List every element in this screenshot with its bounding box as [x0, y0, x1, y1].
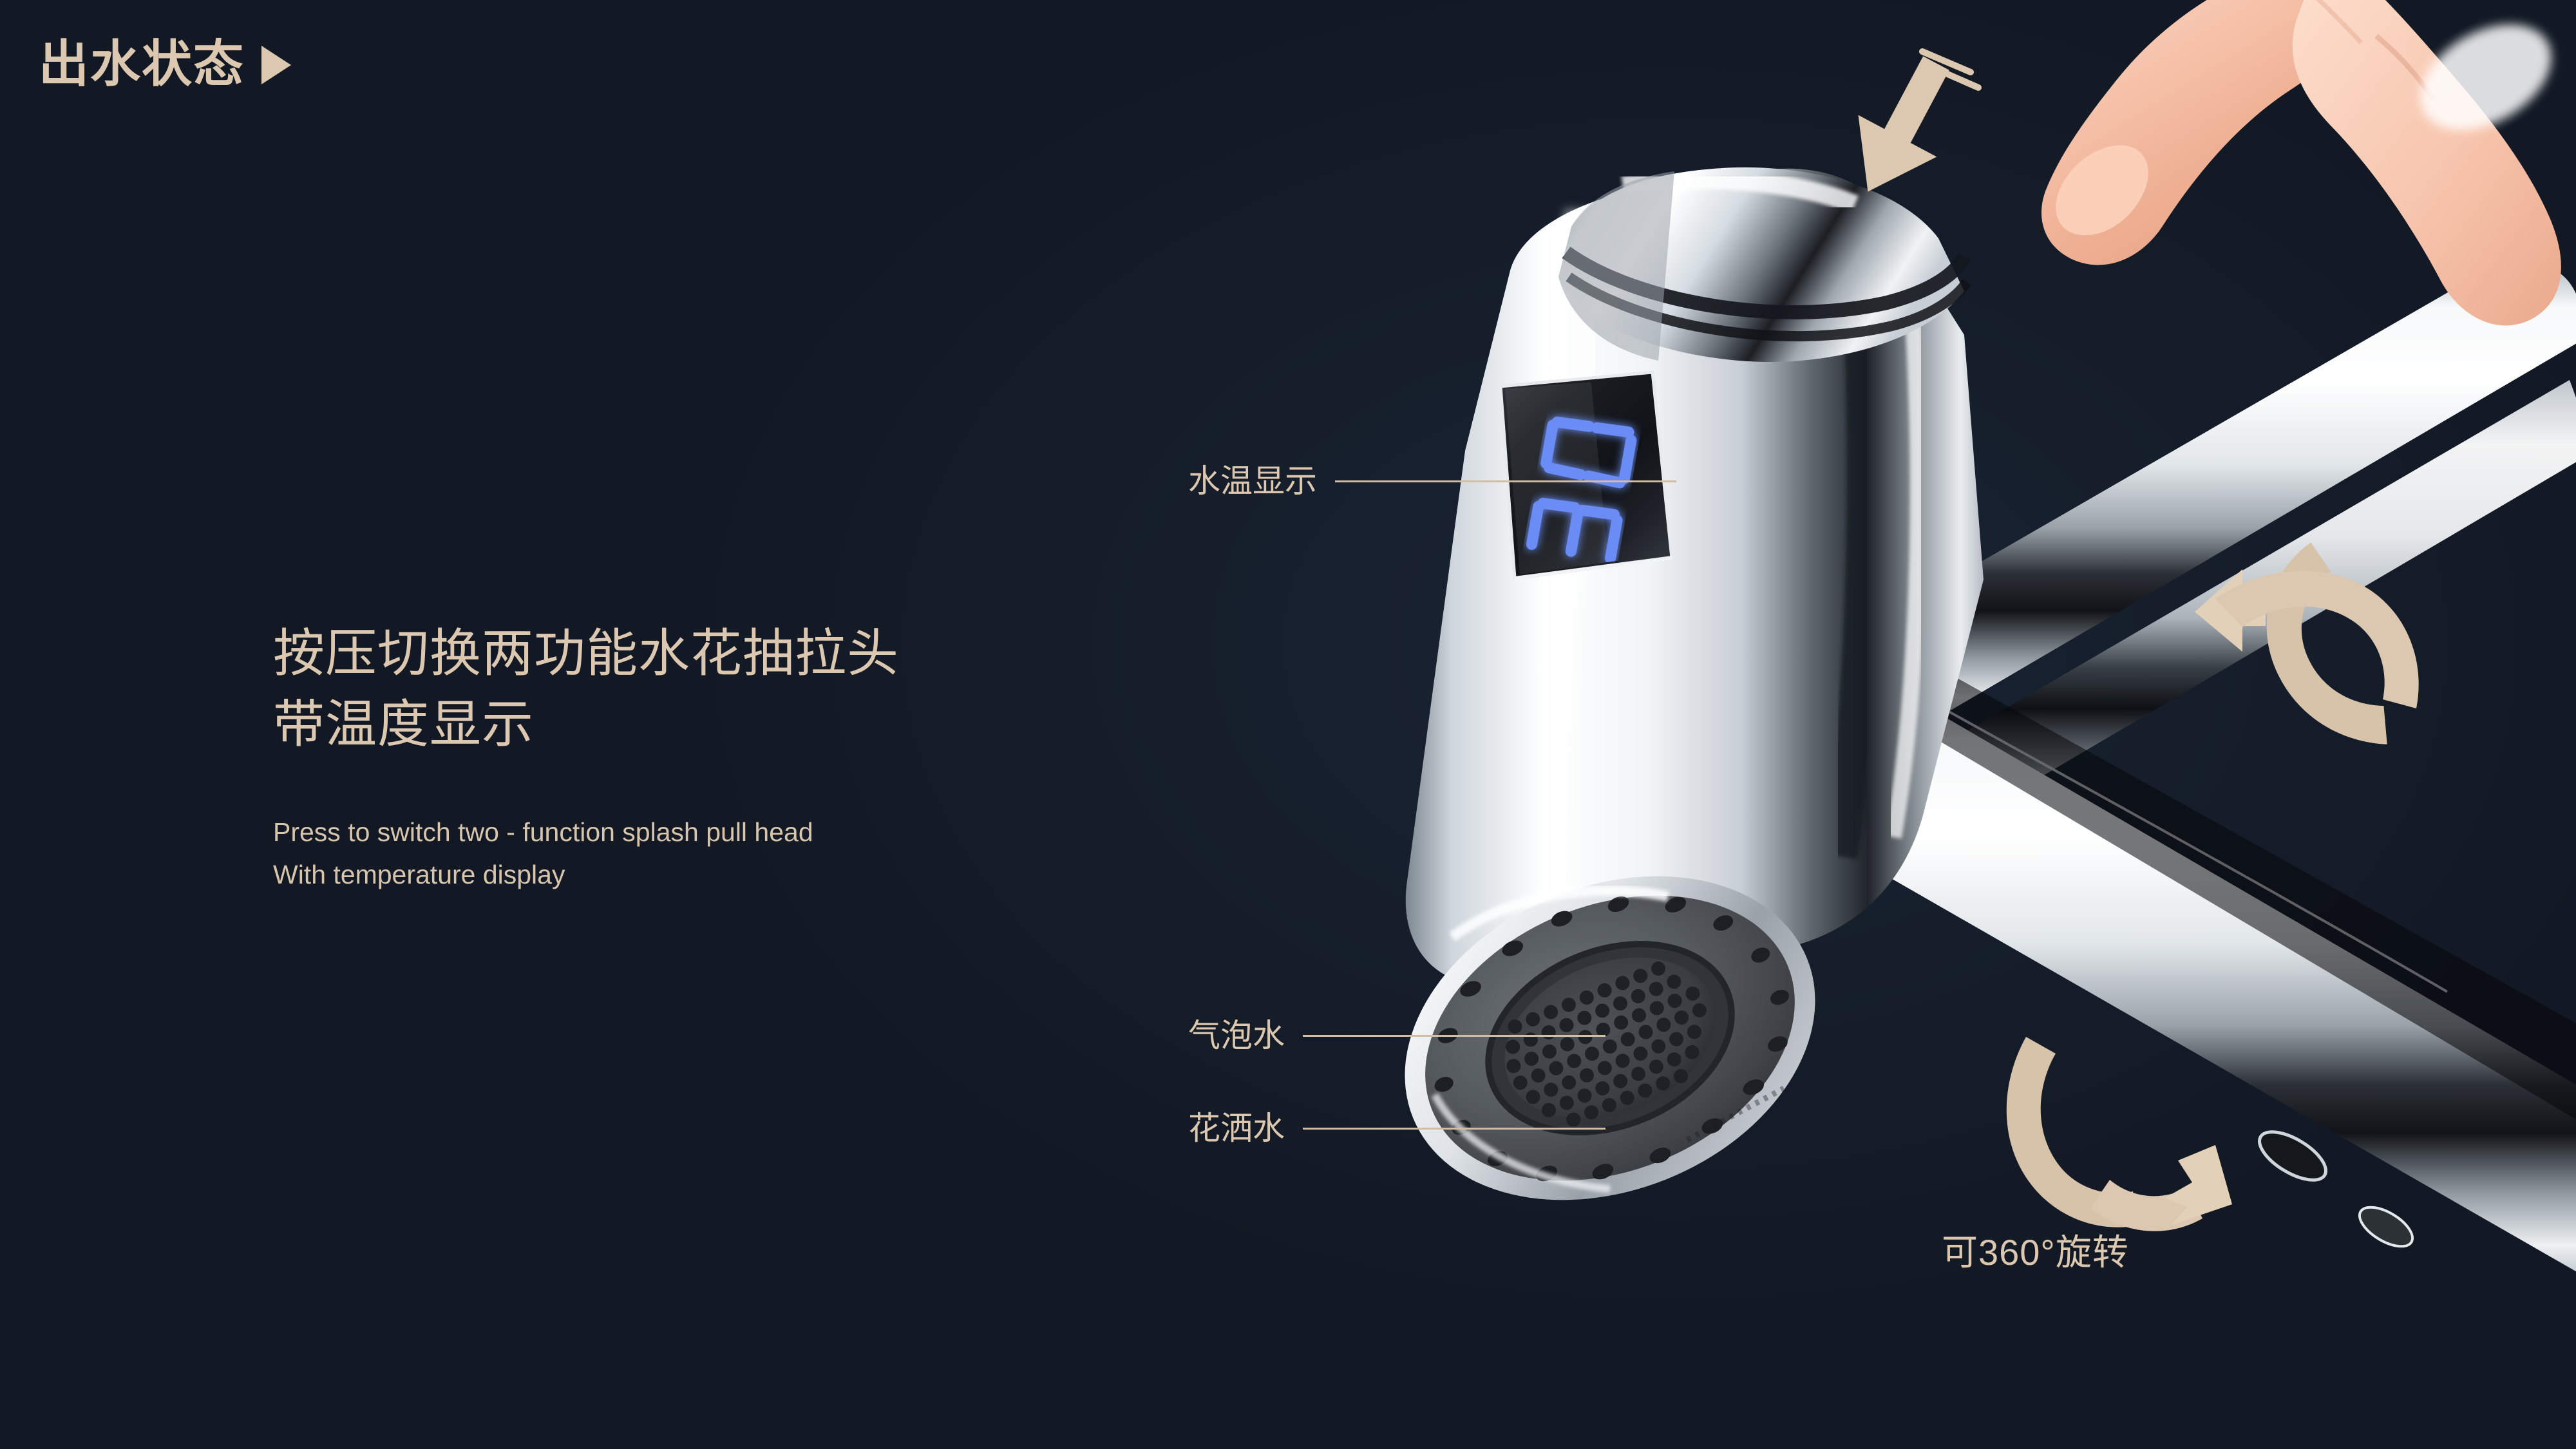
- subheading-line-2: With temperature display: [273, 853, 1175, 896]
- rotate-clockwise-arrow-icon: [2007, 1037, 2232, 1231]
- callout-leader-line: [1303, 1035, 1605, 1037]
- header: 出水状态: [39, 39, 291, 89]
- callout-bubble-water: 气泡水: [1188, 1019, 1605, 1052]
- callout-label: 水温显示: [1188, 465, 1317, 497]
- slide-canvas: 出水状态 按压切换两功能水花抽拉头 带温度显示 Press to switch …: [0, 0, 2576, 1449]
- callout-temperature-display: 水温显示: [1188, 465, 1676, 497]
- faucet-top-cap: [1558, 167, 1967, 362]
- copy-block: 按压切换两功能水花抽拉头 带温度显示 Press to switch two -…: [273, 618, 1175, 896]
- rotation-label: 可360°旋转: [1942, 1224, 2129, 1276]
- callout-leader-line: [1335, 480, 1676, 482]
- callout-shower-water: 花洒水: [1188, 1112, 1605, 1144]
- callout-leader-line: [1303, 1128, 1605, 1130]
- heading-line-2: 带温度显示: [273, 689, 1175, 760]
- page-title: 出水状态: [39, 39, 245, 89]
- callout-label: 花洒水: [1188, 1112, 1285, 1144]
- heading-line-1: 按压切换两功能水花抽拉头: [273, 618, 1175, 689]
- subheading: Press to switch two - function splash pu…: [273, 811, 1175, 896]
- subheading-line-1: Press to switch two - function splash pu…: [273, 811, 1175, 853]
- callout-label: 气泡水: [1188, 1019, 1285, 1052]
- play-triangle-icon: [261, 46, 291, 84]
- pointing-finger: [2041, 0, 2570, 325]
